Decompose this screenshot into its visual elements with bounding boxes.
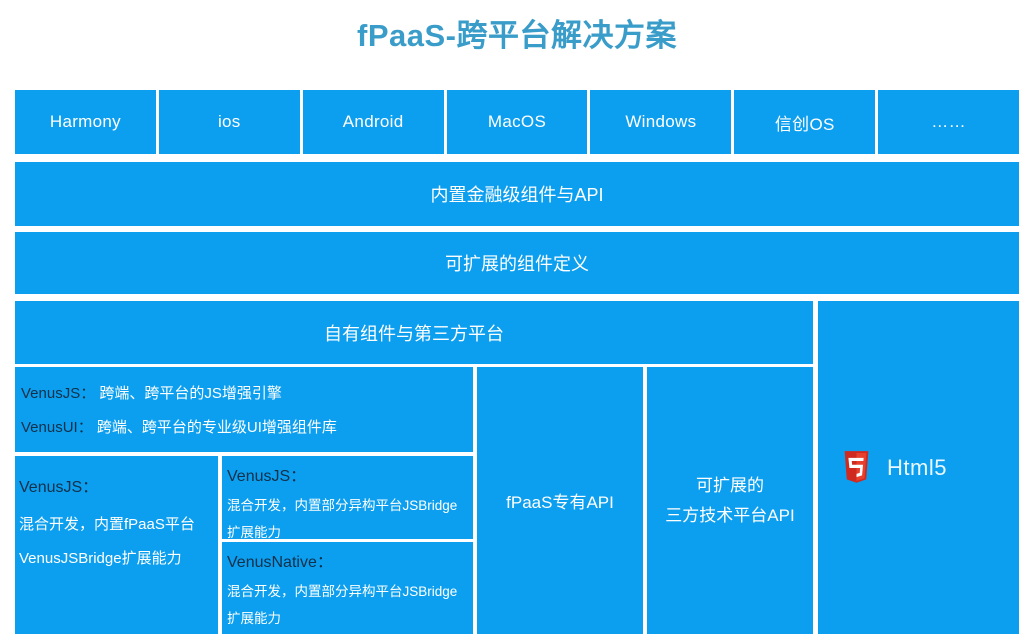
bottom-left-venusjs-key: VenusJS： [19,468,214,508]
platform-cell-harmony[interactable]: Harmony [15,90,156,154]
venus-summary-line-venusjs: VenusJS： 跨端、跨平台的JS增强引擎 [21,377,467,411]
html5-badge: Html5 [842,451,947,484]
venus-summary-box[interactable]: VenusJS： 跨端、跨平台的JS增强引擎 VenusUI： 跨端、跨平台的专… [15,367,473,452]
bottom-left-venusjs-line2: VenusJSBridge扩展能力 [19,542,214,576]
column-extensible-thirdparty-api[interactable]: 可扩展的 三方技术平台API [647,367,813,634]
bottom-left-venusjs-box[interactable]: VenusJS： 混合开发，内置fPaaS平台 VenusJSBridge扩展能… [15,456,218,634]
thirdparty-api-line2: 三方技术平台API [665,501,794,531]
stack-venusnative-line2: 扩展能力 [227,605,468,632]
band-builtin-financial-components-api[interactable]: 内置金融级组件与API [15,162,1019,226]
platform-cell-xinchuangos[interactable]: 信创OS [734,90,875,154]
band-self-owned-and-thirdparty-platform[interactable]: 自有组件与第三方平台 [15,301,813,364]
platform-cell-windows[interactable]: Windows [590,90,731,154]
bottom-left-venusjs-line1: 混合开发，内置fPaaS平台 [19,508,214,542]
html5-shield-icon [842,451,871,484]
stack-venusnative-line1: 混合开发，内置部分异构平台JSBridge [227,578,468,605]
platform-row: Harmony ios Android MacOS Windows 信创OS …… [15,90,1019,154]
venus-summary-key-venusui: VenusUI： [21,419,93,436]
platform-cell-more[interactable]: …… [878,90,1019,154]
band-extensible-component-definition[interactable]: 可扩展的组件定义 [15,232,1019,294]
venus-summary-key-venusjs: VenusJS： [21,385,95,402]
stack-venusnative-key: VenusNative： [227,548,468,578]
column-fpaas-proprietary-api[interactable]: fPaaS专有API [477,367,643,634]
venus-summary-value-venusui: 跨端、跨平台的专业级UI增强组件库 [97,419,337,436]
stack-venusjs-key: VenusJS： [227,462,468,492]
thirdparty-api-line1: 可扩展的 [696,471,764,501]
venus-summary-value-venusjs: 跨端、跨平台的JS增强引擎 [99,385,282,402]
venus-summary-line-venusui: VenusUI： 跨端、跨平台的专业级UI增强组件库 [21,411,467,445]
stack-venusjs-line1: 混合开发，内置部分异构平台JSBridge [227,492,468,519]
diagram-canvas: fPaaS-跨平台解决方案 Harmony ios Android MacOS … [0,0,1034,634]
stack-box-venusjs[interactable]: VenusJS： 混合开发，内置部分异构平台JSBridge 扩展能力 [222,456,473,539]
stack-box-venusnative[interactable]: VenusNative： 混合开发，内置部分异构平台JSBridge 扩展能力 [222,542,473,634]
platform-cell-macos[interactable]: MacOS [447,90,588,154]
column-html5[interactable]: Html5 [818,301,1019,634]
page-title: fPaaS-跨平台解决方案 [0,16,1034,56]
html5-label: Html5 [887,455,947,481]
platform-cell-ios[interactable]: ios [159,90,300,154]
platform-cell-android[interactable]: Android [303,90,444,154]
